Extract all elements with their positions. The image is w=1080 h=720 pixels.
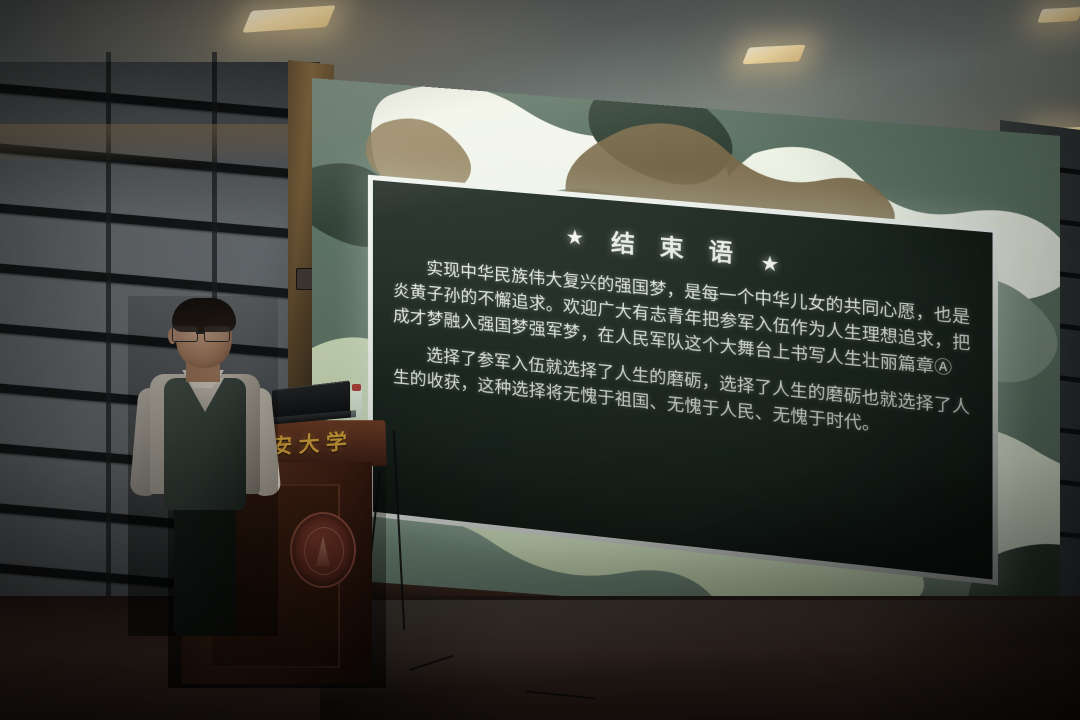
glasses-icon [172,326,234,340]
university-seal-icon [290,512,356,588]
speaker [128,296,278,636]
bottle-cap [352,384,361,391]
glasses-bridge [196,332,204,334]
speaker-trousers [174,492,236,636]
ceiling-light-icon [1037,7,1080,23]
lens [204,326,230,342]
water-bottle-icon [351,389,362,419]
speaker-vest [164,378,246,510]
lecture-hall-photo: ★ 结 束 语 ★ 实现中华民族伟大复兴的强国梦，是每一个中华儿女的共同心愿，也… [0,0,1080,720]
lens [172,326,198,342]
ceiling-light-icon [742,45,806,65]
